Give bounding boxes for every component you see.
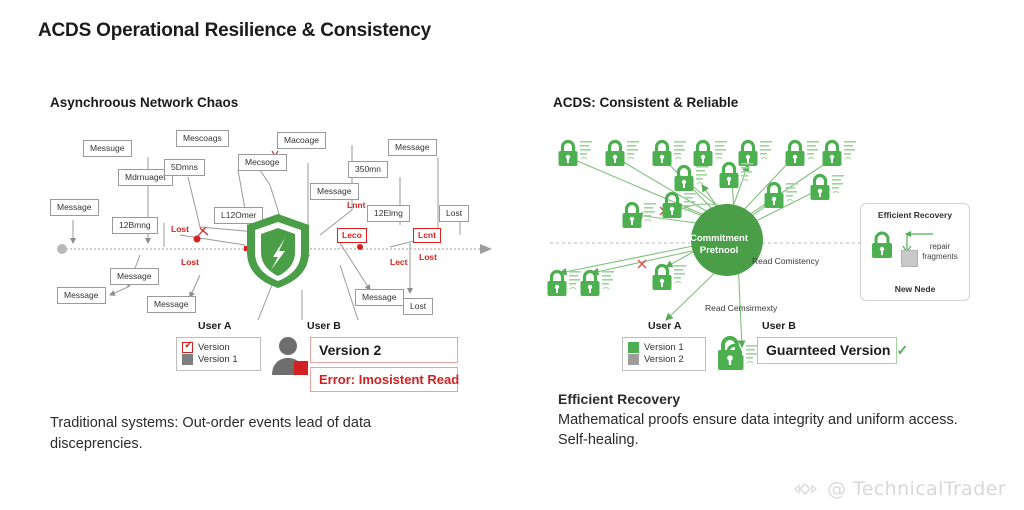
- recovery-card-footer: New Nede: [861, 284, 969, 294]
- lock-icon: [783, 138, 823, 168]
- message-box: Message: [310, 183, 359, 200]
- commitment-line2: Pretnool: [700, 245, 739, 256]
- lock-icon: [556, 138, 596, 168]
- read-consistency-label-2: Read Cemsirmexty: [705, 303, 777, 313]
- person-icon: [268, 335, 312, 375]
- message-box: 12Elmg: [367, 205, 410, 222]
- left-caption: Traditional systems: Out-order events le…: [50, 413, 450, 454]
- message-box: Lost: [439, 205, 469, 222]
- right-user-b-label: User B: [762, 320, 796, 332]
- message-box: Message: [110, 268, 159, 285]
- right-caption-head: Efficient Recovery: [558, 390, 988, 410]
- green-chip: [628, 342, 639, 353]
- lost-label: Lost: [419, 253, 437, 262]
- lock-icon: [762, 180, 802, 210]
- message-box: Macoage: [277, 132, 326, 149]
- version-row: Version 1: [628, 342, 699, 354]
- lock-icon: [578, 268, 618, 298]
- lock-icon: [869, 230, 895, 260]
- slide-root: ACDS Operational Resilience & Consistenc…: [0, 0, 1024, 510]
- message-box: Message: [388, 139, 437, 156]
- version-row: Version 1: [182, 354, 254, 366]
- grey-chip: [628, 354, 639, 365]
- message-box: 350mn: [348, 161, 388, 178]
- watermark: @ TechnicalTrader: [794, 478, 1006, 500]
- guaranteed-version-box: Guarnteed Version✓: [757, 337, 897, 364]
- left-user-a-label: User A: [198, 320, 231, 332]
- message-box: Message: [50, 199, 99, 216]
- message-box: 5Dmns: [164, 159, 205, 176]
- version-label: Version 1: [198, 354, 238, 366]
- read-consistency-label: Read Comistency: [752, 256, 819, 266]
- grey-chip: [182, 354, 193, 365]
- left-user-a-version-box: Version Version 1: [176, 337, 261, 371]
- efficient-recovery-card: Efficient Recovery repair fragments New …: [860, 203, 970, 301]
- message-box: Message: [57, 287, 106, 304]
- recovery-card-title: Efficient Recovery: [861, 210, 969, 220]
- message-box: Message: [355, 289, 404, 306]
- lock-icon: [672, 163, 712, 193]
- repair-fragments-label: repair fragments: [917, 242, 963, 262]
- left-panel-title: Asynchroous Network Chaos: [50, 95, 238, 110]
- lost-label: Lost: [171, 225, 189, 234]
- fragment-block-icon: [901, 250, 918, 267]
- lock-icon: [620, 200, 660, 230]
- lock-icon: [808, 172, 848, 202]
- left-user-b-error: Error: Imosistent Read: [310, 367, 458, 392]
- message-box: Mecsoge: [238, 154, 287, 171]
- guaranteed-version-value: Guarnteed Version: [766, 342, 890, 358]
- version-row: Version 2: [628, 354, 699, 366]
- lock-icon: [603, 138, 643, 168]
- red-check-chip: [182, 342, 193, 353]
- message-box: 12Bmng: [112, 217, 158, 234]
- lock-icon: [717, 160, 757, 190]
- check-icon: ✓: [896, 342, 908, 358]
- version-row: Version: [182, 342, 254, 354]
- lock-icon: [660, 190, 700, 220]
- lock-icon: [650, 262, 690, 292]
- watermark-text: @ TechnicalTrader: [827, 478, 1006, 500]
- message-box: Lost: [403, 298, 433, 315]
- commitment-line1: Commitment: [690, 233, 748, 244]
- version-label: Version 2: [644, 354, 684, 366]
- version-label: Version: [198, 342, 230, 354]
- right-user-a-version-box: Version 1 Version 2: [622, 337, 706, 371]
- lost-label: Lnnt: [347, 201, 365, 210]
- lock-icon: [820, 138, 860, 168]
- right-panel-title: ACDS: Consistent & Reliable: [553, 95, 738, 110]
- right-caption-body: Mathematical proofs ensure data integrit…: [558, 412, 958, 449]
- commitment-node-label: Commitment Pretnool: [679, 233, 759, 257]
- message-box: Messuge: [83, 140, 132, 157]
- message-box: Mescoags: [176, 130, 229, 147]
- lock-icon: [715, 334, 745, 372]
- left-user-b-version-value: Version 2: [310, 337, 458, 363]
- right-caption: Efficient Recovery Mathematical proofs e…: [558, 390, 988, 451]
- lost-label: Lost: [181, 258, 199, 267]
- right-user-a-label: User A: [648, 320, 681, 332]
- shield-lightning-icon: [243, 212, 313, 290]
- lost-label: Lect: [390, 258, 407, 267]
- left-user-b-label: User B: [307, 320, 341, 332]
- lost-label: Lcnt: [413, 228, 441, 243]
- version-label: Version 1: [644, 342, 684, 354]
- page-title: ACDS Operational Resilience & Consistenc…: [38, 20, 431, 42]
- lost-label: Leco: [337, 228, 367, 243]
- diamond-logo-icon: [794, 479, 820, 499]
- message-box: Message: [147, 296, 196, 313]
